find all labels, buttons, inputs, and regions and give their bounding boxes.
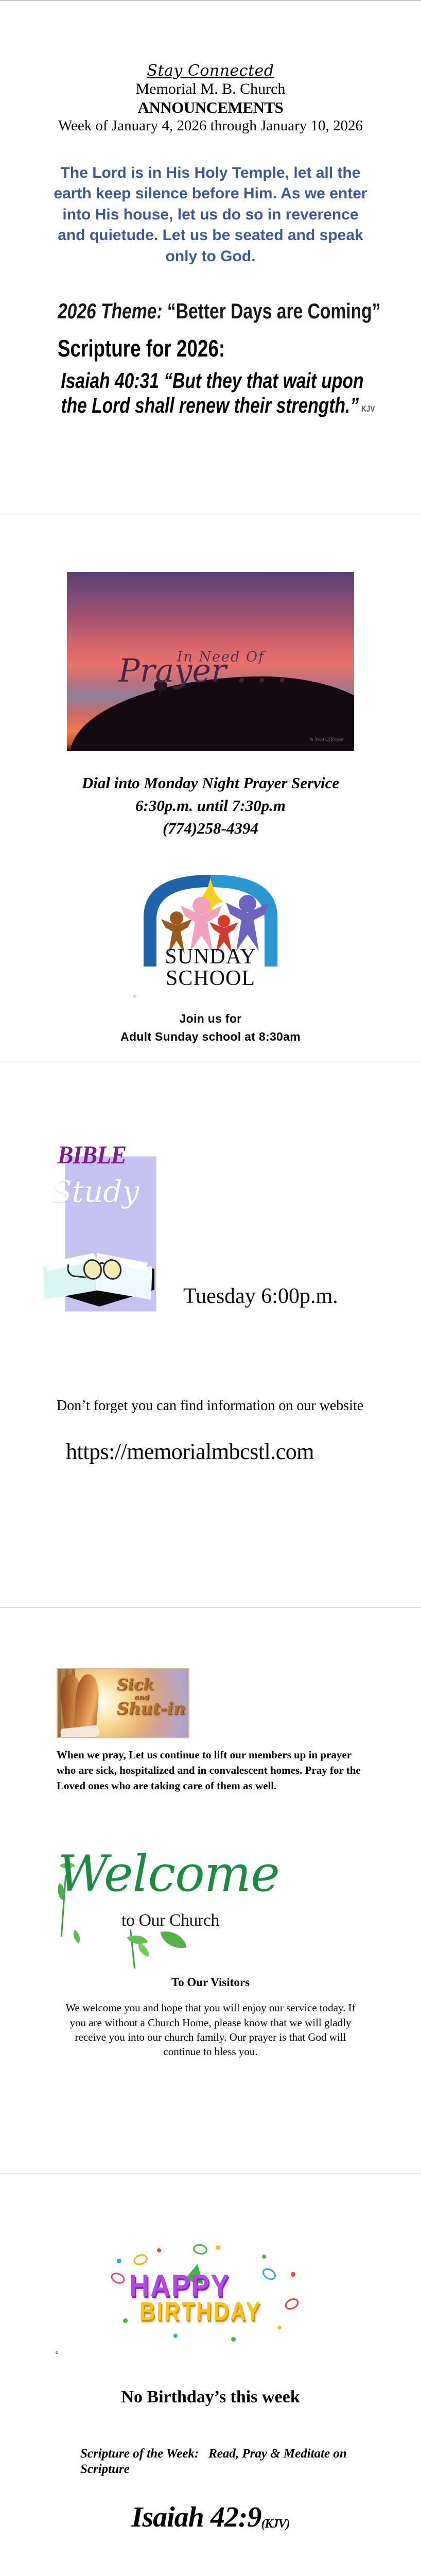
sick-word: Sick: [117, 1677, 185, 1693]
sunday-school-details: Join us for Adult Sunday school at 8:30a…: [31, 1010, 390, 1061]
church-name: Memorial M. B. Church: [31, 80, 390, 98]
bible-study-word-study: Study: [51, 1177, 139, 1207]
welcome-script-text: Welcome: [58, 1849, 279, 1899]
sunday-school-logo: SUNDAY SCHOOL c: [123, 863, 298, 992]
scripture-of-the-week: Scripture of the Week: Read, Pray & Medi…: [80, 2446, 390, 2477]
prayer-time-line: 6:30p.m. until 7:30p.m: [31, 794, 390, 817]
leaf-icon: [136, 1943, 152, 1957]
scripture-quote: Isaiah 40:31 “But they that wait upon th…: [58, 368, 393, 418]
page-sick-welcome: Sick and Shut-in When we pray, Let us co…: [0, 1607, 421, 2174]
welcome-block: Welcome to Our Church: [31, 1823, 390, 1971]
banner-watermark: In Need Of Prayer: [309, 737, 344, 742]
theme-label: 2026 Theme:: [58, 299, 163, 323]
prayer-banner-text: In Need Of Prayer . . .: [67, 649, 354, 684]
website-note: Don’t forget you can find information on…: [57, 1396, 390, 1416]
sunday-school-join-line: Join us for: [31, 1010, 390, 1028]
bible-study-time: Tuesday 6:00p.m.: [183, 1284, 338, 1309]
theme-line: 2026 Theme: “Better Days are Coming”: [58, 299, 390, 323]
welcome-subtitle: to Our Church: [121, 1911, 219, 1930]
sunday-school-youth-line: Youth Sunday School: [31, 1057, 390, 1061]
scripture-version: KJV: [359, 404, 375, 414]
page-birthday-thought: HAPPY BIRTHDAY o No Birthday’s this week…: [0, 2174, 421, 2576]
prayer-phone-number[interactable]: (774)258-4394: [31, 817, 390, 840]
prayer-dial-line: Dial into Monday Night Prayer Service: [31, 772, 390, 794]
in-need-of-prayer-banner: In Need Of Prayer . . . In Need Of Praye…: [67, 572, 354, 751]
bible-study-word-bible: BIBLE: [58, 1142, 126, 1167]
prayer-service-details: Dial into Monday Night Prayer Service 6:…: [31, 772, 390, 840]
bible-study-block: BIBLE Study Tuesday 6:00p.m.: [31, 1139, 390, 1355]
call-to-worship-text: The Lord is in His Holy Temple, let all …: [48, 163, 373, 267]
sunday-school-adult-line: Adult Sunday school at 8:30am: [31, 1028, 390, 1046]
page-prayer-sunday-school: In Need Of Prayer . . . In Need Of Praye…: [0, 515, 421, 1061]
scripture-week-version: (KJV): [261, 2517, 289, 2531]
stay-connected-title: Stay Connected: [31, 62, 390, 79]
open-book-icon: [40, 1249, 159, 1310]
sick-and-shut-in-paragraph: When we pray, Let us continue to lift ou…: [57, 1748, 365, 1793]
scripture-week-reference: Isaiah 42:9: [132, 2501, 261, 2533]
praying-hands-icon: [60, 1670, 109, 1738]
announcement-document: Stay Connected Memorial M. B. Church ANN…: [0, 0, 421, 2576]
announcements-title: ANNOUNCEMENTS: [31, 98, 390, 117]
scripture-week-reference-line: Isaiah 42:9(KJV): [31, 2501, 390, 2534]
no-birthdays-message: No Birthday’s this week: [31, 2387, 390, 2407]
sick-and-shut-in-banner: Sick and Shut-in: [57, 1668, 189, 1738]
sunday-school-wordmark: SUNDAY SCHOOL: [123, 946, 298, 989]
website-url[interactable]: https://memorialmbcstl.com: [66, 1438, 390, 1466]
sick-banner-text: Sick and Shut-in: [117, 1677, 185, 1717]
scripture-week-label: Scripture of the Week:: [80, 2447, 199, 2461]
scripture-heading: Scripture for 2026:: [58, 335, 390, 362]
theme-value: “Better Days are Coming”: [167, 299, 381, 323]
leaf-icon: [160, 1927, 186, 1952]
sunday-school-mark: c: [134, 993, 136, 998]
tree-silhouette: [153, 680, 168, 698]
visitors-heading: To Our Visitors: [31, 1976, 390, 1989]
stray-character: o: [56, 2349, 390, 2355]
page-bible-study-website: BIBLE Study Tuesday 6:00p.m.: [0, 1061, 421, 1607]
leaf-icon: [69, 1930, 83, 1943]
page-header-section: Stay Connected Memorial M. B. Church ANN…: [0, 0, 421, 515]
happy-birthday-graphic: HAPPY BIRTHDAY: [108, 2241, 313, 2349]
reading-glasses-icon: [67, 1256, 128, 1279]
birthday-word-birthday: BIRTHDAY: [139, 2296, 262, 2326]
theme-block: 2026 Theme: “Better Days are Coming” Scr…: [58, 299, 390, 417]
scripture-text: Isaiah 40:31 “But they that wait upon th…: [61, 368, 363, 417]
banner-line-need: In Need Of: [87, 649, 354, 665]
visitors-paragraph: We welcome you and hope that you will en…: [64, 2001, 357, 2059]
shutin-word: Shut-in: [117, 1700, 185, 1717]
week-range: Week of January 4, 2026 through January …: [31, 117, 390, 135]
